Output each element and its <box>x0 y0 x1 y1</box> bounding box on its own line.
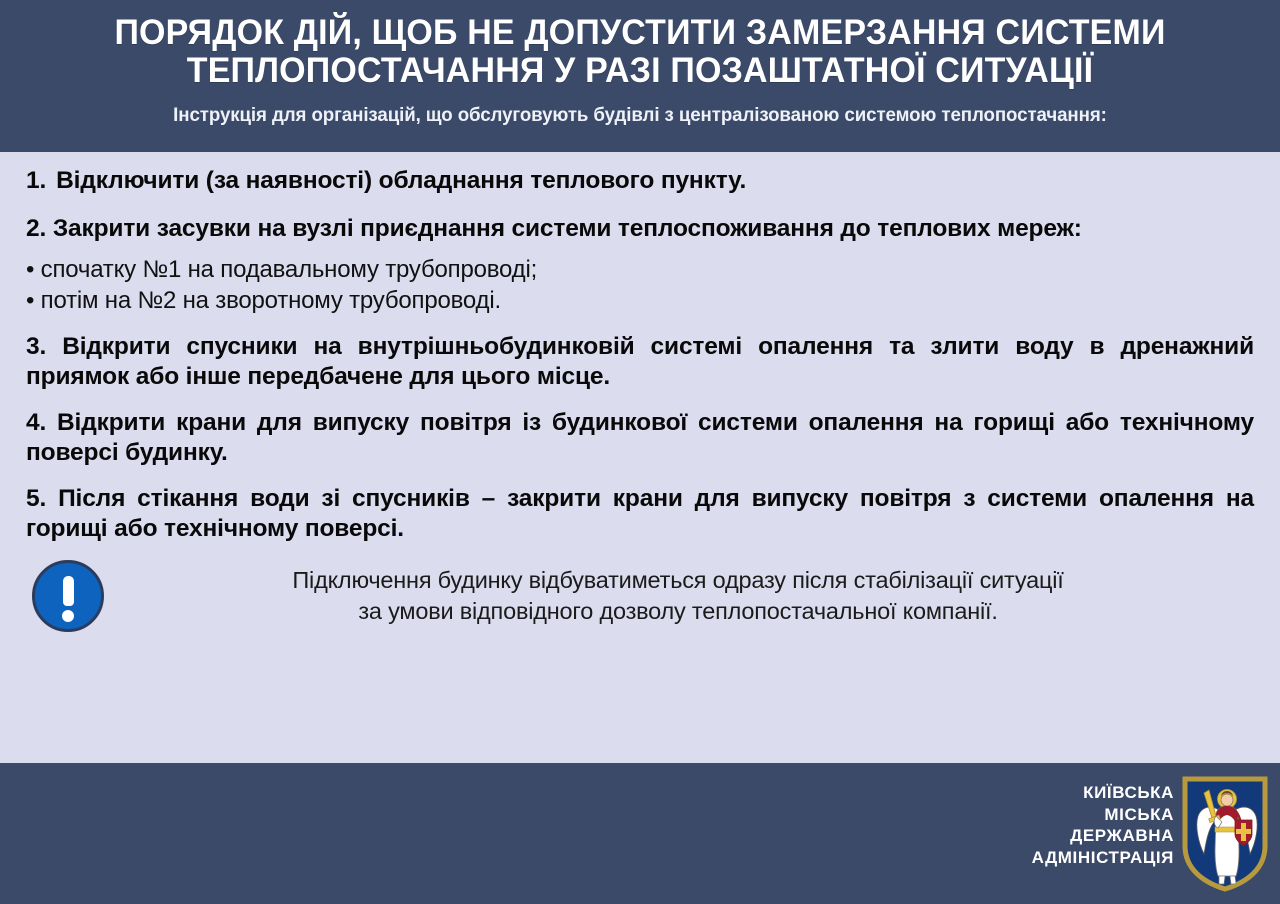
title-line-2: ТЕПЛОПОСТАЧАННЯ У РАЗІ ПОЗАШТАТНОЇ СИТУА… <box>48 52 1231 90</box>
exclamation-bar <box>63 576 74 606</box>
title-line-1: ПОРЯДОК ДІЙ, ЩОБ НЕ ДОПУСТИТИ ЗАМЕРЗАННЯ… <box>48 14 1231 52</box>
note-line-2: за умови відповідного дозволу теплопоста… <box>130 596 1226 627</box>
brand-line-2: МІСЬКА <box>1032 804 1174 826</box>
step-number-4: 4. <box>26 409 46 436</box>
step-2-bullet-list: • спочатку №1 на подавальному трубопрово… <box>26 254 1254 316</box>
step-text-1: Відключити (за наявності) обладнання теп… <box>56 167 746 194</box>
note-text: Підключення будинку відбуватиметься одра… <box>130 565 1254 627</box>
list-item: • спочатку №1 на подавальному трубопрово… <box>26 254 1254 285</box>
step-text-2: Закрити засувки на вузлі приєднання сист… <box>53 215 1082 242</box>
list-item: • потім на №2 на зворотному трубопроводі… <box>26 285 1254 316</box>
organization-name: КИЇВСЬКА МІСЬКА ДЕРЖАВНА АДМІНІСТРАЦІЯ <box>1032 782 1174 868</box>
brand-line-1: КИЇВСЬКА <box>1032 782 1174 804</box>
exclamation-dot <box>62 610 74 622</box>
step-item-1: 1.Відключити (за наявності) обладнання т… <box>26 166 1254 196</box>
page-subtitle: Інструкція для організацій, що обслугову… <box>31 105 1248 127</box>
step-number-1: 1. <box>26 167 46 194</box>
step-number-3: 3. <box>26 333 46 360</box>
step-item-3: 3. Відкрити спусники на внутрішньобудинк… <box>26 332 1254 392</box>
step-item-2: 2. Закрити засувки на вузлі приєднання с… <box>26 214 1254 244</box>
exclamation-icon <box>32 560 104 632</box>
step-item-5: 5. Після стікання води зі спусників – за… <box>26 484 1254 544</box>
note-block: Підключення будинку відбуватиметься одра… <box>26 560 1254 632</box>
step-text-3: Відкрити спусники на внутрішньобудинкові… <box>26 333 1254 390</box>
step-text-4: Відкрити крани для випуску повітря із бу… <box>26 409 1254 466</box>
step-number-5: 5. <box>26 485 46 512</box>
step-number-2: 2. <box>26 215 46 242</box>
brand-line-4: АДМІНІСТРАЦІЯ <box>1032 847 1174 869</box>
infographic-poster: ПОРЯДОК ДІЙ, ЩОБ НЕ ДОПУСТИТИ ЗАМЕРЗАННЯ… <box>0 0 1280 904</box>
note-line-1: Підключення будинку відбуватиметься одра… <box>130 565 1226 596</box>
poster-header: ПОРЯДОК ДІЙ, ЩОБ НЕ ДОПУСТИТИ ЗАМЕРЗАННЯ… <box>0 0 1280 152</box>
kyiv-coat-of-arms-icon <box>1182 776 1268 892</box>
brand-line-3: ДЕРЖАВНА <box>1032 825 1174 847</box>
page-title: ПОРЯДОК ДІЙ, ЩОБ НЕ ДОПУСТИТИ ЗАМЕРЗАННЯ… <box>41 14 1240 90</box>
instructions-panel: 1.Відключити (за наявності) обладнання т… <box>0 152 1280 763</box>
step-item-4: 4. Відкрити крани для випуску повітря із… <box>26 408 1254 468</box>
step-text-5: Після стікання води зі спусників – закри… <box>26 485 1254 542</box>
